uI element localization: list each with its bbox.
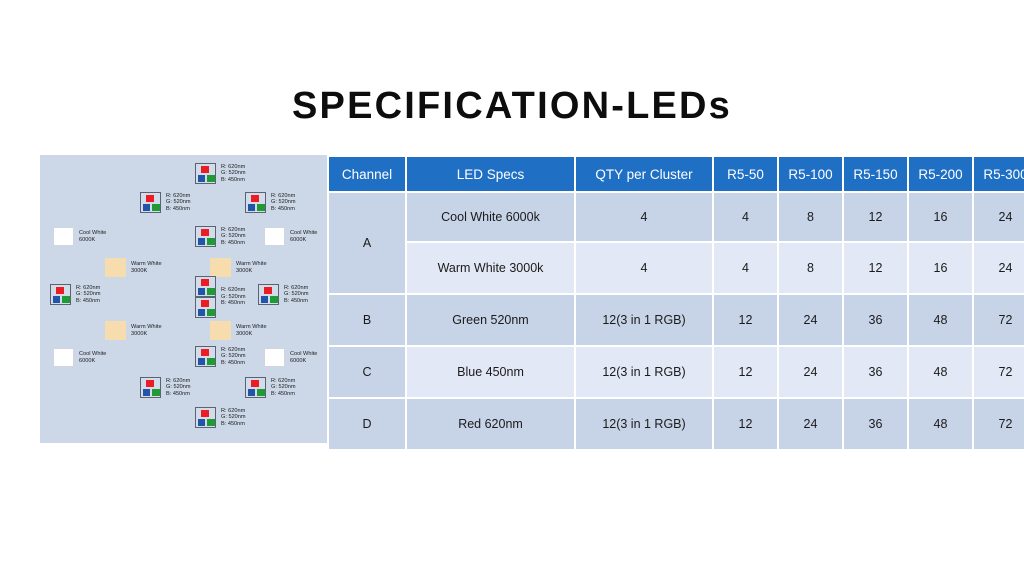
cell-r5-200: 48 <box>909 399 972 449</box>
label-line: B: 450nm <box>284 298 309 305</box>
cell-led-specs: Warm White 3000k <box>407 243 574 293</box>
green-die-icon <box>62 296 70 303</box>
page-title: SPECIFICATION-LEDs <box>0 83 1024 129</box>
cell-led-specs: Red 620nm <box>407 399 574 449</box>
red-die-icon <box>201 300 209 308</box>
green-die-icon <box>207 358 215 365</box>
label-line: B: 450nm <box>271 391 296 398</box>
table-row: A Cool White 6000k 4 4 8 12 16 24 <box>329 193 1024 241</box>
cool-white-label: Cool White6000K <box>79 230 106 243</box>
label-line: G: 520nm <box>271 199 296 206</box>
rgb-led-icon <box>258 284 279 305</box>
table-row: B Green 520nm 12(3 in 1 RGB) 12 24 36 48… <box>329 295 1024 345</box>
green-die-icon <box>207 288 215 295</box>
green-die-icon <box>257 204 265 211</box>
label-line: R: 620nm <box>221 287 246 294</box>
cell-r5-100: 24 <box>779 295 842 345</box>
label-line: G: 520nm <box>221 414 246 421</box>
rgb-led-icon <box>195 163 216 184</box>
cell-channel: B <box>329 295 405 345</box>
cell-r5-50: 12 <box>714 295 777 345</box>
blue-die-icon <box>261 296 269 303</box>
warm-white-swatch-icon <box>210 258 231 277</box>
rgb-led-label: R: 620nmG: 520nmB: 450nm <box>166 193 191 213</box>
cell-r5-300: 24 <box>974 243 1024 293</box>
label-line: G: 520nm <box>221 294 246 301</box>
blue-die-icon <box>143 204 151 211</box>
label-line: Warm White <box>236 324 267 331</box>
warm-white-label: Warm White3000K <box>236 324 267 337</box>
label-line: G: 520nm <box>166 199 191 206</box>
label-line: R: 620nm <box>221 408 246 415</box>
column-header-qty-per-cluster: QTY per Cluster <box>576 157 712 191</box>
red-die-icon <box>201 166 209 174</box>
cool-white-label: Cool White6000K <box>290 230 317 243</box>
rgb-led-label: R: 620nmG: 520nmB: 450nm <box>221 287 246 307</box>
rgb-led-icon <box>195 226 216 247</box>
cell-r5-200: 16 <box>909 193 972 241</box>
label-line: G: 520nm <box>271 384 296 391</box>
cell-channel: C <box>329 347 405 397</box>
label-line: 3000K <box>131 268 162 275</box>
led-cluster-diagram: R: 620nmG: 520nmB: 450nmR: 620nmG: 520nm… <box>40 155 327 443</box>
label-line: B: 450nm <box>76 298 101 305</box>
cell-r5-200: 16 <box>909 243 972 293</box>
cell-r5-50: 12 <box>714 347 777 397</box>
table-header-row: Channel LED Specs QTY per Cluster R5-50 … <box>329 157 1024 191</box>
rgb-led-label: R: 620nmG: 520nmB: 450nm <box>271 193 296 213</box>
table-body: A Cool White 6000k 4 4 8 12 16 24 Warm W… <box>329 193 1024 449</box>
cell-r5-50: 4 <box>714 193 777 241</box>
blue-die-icon <box>198 309 206 316</box>
cell-r5-300: 72 <box>974 399 1024 449</box>
cell-r5-100: 24 <box>779 399 842 449</box>
cool-white-swatch-icon <box>264 348 285 367</box>
green-die-icon <box>152 204 160 211</box>
rgb-led-icon <box>195 297 216 318</box>
warm-white-label: Warm White3000K <box>131 324 162 337</box>
led-node-rgb-upper-right: R: 620nmG: 520nmB: 450nm <box>245 192 296 213</box>
label-line: B: 450nm <box>221 421 246 428</box>
label-line: R: 620nm <box>221 227 246 234</box>
green-die-icon <box>257 389 265 396</box>
green-die-icon <box>207 309 215 316</box>
cool-white-label: Cool White6000K <box>290 351 317 364</box>
led-node-rgb-lower-right: R: 620nmG: 520nmB: 450nm <box>245 377 296 398</box>
cell-r5-150: 12 <box>844 243 907 293</box>
cell-r5-50: 4 <box>714 243 777 293</box>
label-line: 6000K <box>79 358 106 365</box>
table-row: D Red 620nm 12(3 in 1 RGB) 12 24 36 48 7… <box>329 399 1024 449</box>
label-line: R: 620nm <box>166 193 191 200</box>
slide-root: { "slide": { "title": "SPECIFICATION-LED… <box>0 0 1024 575</box>
cell-qty-per-cluster: 12(3 in 1 RGB) <box>576 295 712 345</box>
blue-die-icon <box>248 204 256 211</box>
warm-white-label: Warm White3000K <box>131 261 162 274</box>
green-die-icon <box>270 296 278 303</box>
label-line: 3000K <box>236 268 267 275</box>
label-line: B: 450nm <box>166 206 191 213</box>
label-line: G: 520nm <box>284 291 309 298</box>
label-line: G: 520nm <box>166 384 191 391</box>
column-header-r5-150: R5-150 <box>844 157 907 191</box>
cell-r5-200: 48 <box>909 295 972 345</box>
column-header-r5-200: R5-200 <box>909 157 972 191</box>
table-row: Warm White 3000k 4 4 8 12 16 24 <box>329 243 1024 293</box>
cell-channel: D <box>329 399 405 449</box>
rgb-led-label: R: 620nmG: 520nmB: 450nm <box>166 378 191 398</box>
green-die-icon <box>207 238 215 245</box>
label-line: Cool White <box>79 230 106 237</box>
label-line: 3000K <box>131 331 162 338</box>
label-line: B: 450nm <box>271 206 296 213</box>
label-line: Warm White <box>131 324 162 331</box>
label-line: G: 520nm <box>221 353 246 360</box>
rgb-led-label: R: 620nmG: 520nmB: 450nm <box>284 285 309 305</box>
label-line: R: 620nm <box>271 193 296 200</box>
blue-die-icon <box>198 358 206 365</box>
column-header-r5-300: R5-300 <box>974 157 1024 191</box>
cell-r5-200: 48 <box>909 347 972 397</box>
column-header-r5-100: R5-100 <box>779 157 842 191</box>
cell-r5-300: 72 <box>974 295 1024 345</box>
rgb-led-label: R: 620nmG: 520nmB: 450nm <box>221 227 246 247</box>
column-header-r5-50: R5-50 <box>714 157 777 191</box>
led-node-cool-lower-left: Cool White6000K <box>53 348 106 367</box>
rgb-led-stack <box>195 276 216 318</box>
led-node-warm-lower-left: Warm White3000K <box>105 321 162 340</box>
table-row: C Blue 450nm 12(3 in 1 RGB) 12 24 36 48 … <box>329 347 1024 397</box>
green-die-icon <box>152 389 160 396</box>
led-node-warm-lower-right: Warm White3000K <box>210 321 267 340</box>
led-node-rgb-bottom: R: 620nmG: 520nmB: 450nm <box>195 407 246 428</box>
cell-r5-300: 24 <box>974 193 1024 241</box>
red-die-icon <box>201 279 209 287</box>
cell-r5-100: 8 <box>779 243 842 293</box>
rgb-led-label: R: 620nmG: 520nmB: 450nm <box>76 285 101 305</box>
led-specification-table: Channel LED Specs QTY per Cluster R5-50 … <box>327 155 1024 451</box>
rgb-led-icon <box>195 276 216 297</box>
red-die-icon <box>251 380 259 388</box>
label-line: Warm White <box>131 261 162 268</box>
blue-die-icon <box>53 296 61 303</box>
cell-led-specs: Green 520nm <box>407 295 574 345</box>
led-node-rgb-center-stack: R: 620nmG: 520nmB: 450nm <box>195 276 246 318</box>
cell-led-specs: Cool White 6000k <box>407 193 574 241</box>
label-line: B: 450nm <box>166 391 191 398</box>
led-node-rgb-left: R: 620nmG: 520nmB: 450nm <box>50 284 101 305</box>
warm-white-swatch-icon <box>105 321 126 340</box>
led-node-warm-upper-left: Warm White3000K <box>105 258 162 277</box>
warm-white-label: Warm White3000K <box>236 261 267 274</box>
led-node-rgb-right: R: 620nmG: 520nmB: 450nm <box>258 284 309 305</box>
cool-white-swatch-icon <box>264 227 285 246</box>
cell-r5-100: 8 <box>779 193 842 241</box>
label-line: Cool White <box>79 351 106 358</box>
label-line: G: 520nm <box>221 233 246 240</box>
label-line: 6000K <box>290 237 317 244</box>
label-line: B: 450nm <box>221 177 246 184</box>
label-line: 6000K <box>290 358 317 365</box>
blue-die-icon <box>198 175 206 182</box>
rgb-led-label: R: 620nmG: 520nmB: 450nm <box>221 347 246 367</box>
led-node-cool-upper-left: Cool White6000K <box>53 227 106 246</box>
rgb-led-icon <box>140 377 161 398</box>
cell-qty-per-cluster: 12(3 in 1 RGB) <box>576 347 712 397</box>
cell-r5-150: 36 <box>844 399 907 449</box>
column-header-channel: Channel <box>329 157 405 191</box>
green-die-icon <box>207 175 215 182</box>
cool-white-swatch-icon <box>53 348 74 367</box>
cell-r5-150: 36 <box>844 347 907 397</box>
blue-die-icon <box>198 419 206 426</box>
label-line: R: 620nm <box>76 285 101 292</box>
cell-qty-per-cluster: 4 <box>576 193 712 241</box>
rgb-led-label: R: 620nmG: 520nmB: 450nm <box>221 408 246 428</box>
led-node-rgb-lower-left: R: 620nmG: 520nmB: 450nm <box>140 377 191 398</box>
red-die-icon <box>146 195 154 203</box>
rgb-led-icon <box>195 346 216 367</box>
rgb-led-icon <box>50 284 71 305</box>
red-die-icon <box>201 410 209 418</box>
label-line: R: 620nm <box>166 378 191 385</box>
red-die-icon <box>264 287 272 295</box>
label-line: R: 620nm <box>284 285 309 292</box>
blue-die-icon <box>198 288 206 295</box>
warm-white-swatch-icon <box>210 321 231 340</box>
label-line: Cool White <box>290 351 317 358</box>
red-die-icon <box>146 380 154 388</box>
cell-r5-50: 12 <box>714 399 777 449</box>
label-line: R: 620nm <box>221 164 246 171</box>
red-die-icon <box>251 195 259 203</box>
rgb-led-icon <box>195 407 216 428</box>
red-die-icon <box>56 287 64 295</box>
label-line: B: 450nm <box>221 300 246 307</box>
cell-r5-150: 12 <box>844 193 907 241</box>
label-line: R: 620nm <box>271 378 296 385</box>
cool-white-label: Cool White6000K <box>79 351 106 364</box>
rgb-led-icon <box>245 377 266 398</box>
green-die-icon <box>207 419 215 426</box>
cell-r5-300: 72 <box>974 347 1024 397</box>
red-die-icon <box>201 229 209 237</box>
cell-r5-150: 36 <box>844 295 907 345</box>
cell-led-specs: Blue 450nm <box>407 347 574 397</box>
label-line: Warm White <box>236 261 267 268</box>
led-node-warm-upper-right: Warm White3000K <box>210 258 267 277</box>
column-header-led-specs: LED Specs <box>407 157 574 191</box>
warm-white-swatch-icon <box>105 258 126 277</box>
cell-qty-per-cluster: 4 <box>576 243 712 293</box>
led-node-rgb-upper-left: R: 620nmG: 520nmB: 450nm <box>140 192 191 213</box>
cool-white-swatch-icon <box>53 227 74 246</box>
led-node-cool-upper-right: Cool White6000K <box>264 227 317 246</box>
label-line: G: 520nm <box>76 291 101 298</box>
cell-channel: A <box>329 193 405 293</box>
label-line: 3000K <box>236 331 267 338</box>
blue-die-icon <box>198 238 206 245</box>
rgb-led-label: R: 620nmG: 520nmB: 450nm <box>221 164 246 184</box>
label-line: G: 520nm <box>221 170 246 177</box>
rgb-led-icon <box>245 192 266 213</box>
led-node-cool-lower-right: Cool White6000K <box>264 348 317 367</box>
led-node-rgb-top: R: 620nmG: 520nmB: 450nm <box>195 163 246 184</box>
label-line: Cool White <box>290 230 317 237</box>
blue-die-icon <box>248 389 256 396</box>
cell-r5-100: 24 <box>779 347 842 397</box>
red-die-icon <box>201 349 209 357</box>
label-line: B: 450nm <box>221 360 246 367</box>
rgb-led-label: R: 620nmG: 520nmB: 450nm <box>271 378 296 398</box>
label-line: 6000K <box>79 237 106 244</box>
label-line: R: 620nm <box>221 347 246 354</box>
led-node-rgb-lower-mid: R: 620nmG: 520nmB: 450nm <box>195 346 246 367</box>
cell-qty-per-cluster: 12(3 in 1 RGB) <box>576 399 712 449</box>
led-node-rgb-upper-mid: R: 620nmG: 520nmB: 450nm <box>195 226 246 247</box>
blue-die-icon <box>143 389 151 396</box>
label-line: B: 450nm <box>221 240 246 247</box>
rgb-led-icon <box>140 192 161 213</box>
